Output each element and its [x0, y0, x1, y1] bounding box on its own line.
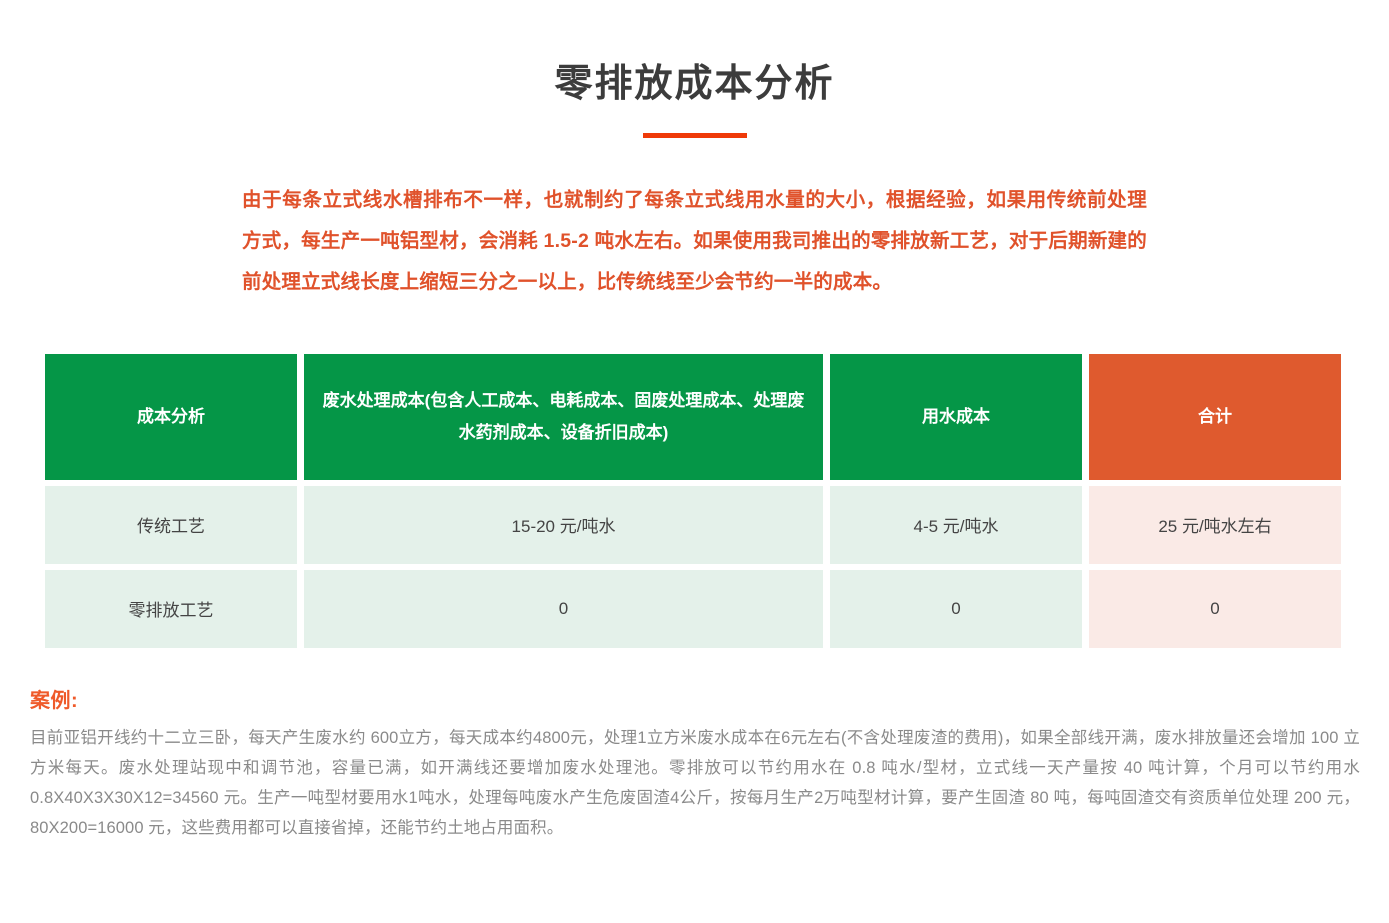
cell-wastewater-cost-traditional: 15-20 元/吨水: [304, 486, 823, 564]
table-body: 传统工艺 15-20 元/吨水 4-5 元/吨水 25 元/吨水左右 零排放工艺…: [45, 486, 1341, 648]
title-underline-rule: [643, 133, 747, 138]
cost-analysis-page: 零排放成本分析 由于每条立式线水槽排布不一样，也就制约了每条立式线用水量的大小，…: [0, 0, 1389, 923]
page-title: 零排放成本分析: [0, 62, 1389, 108]
cell-water-cost-zero-emission: 0: [830, 570, 1082, 648]
intro-paragraph: 由于每条立式线水槽排布不一样，也就制约了每条立式线用水量的大小，根据经验，如果用…: [242, 180, 1147, 303]
cell-wastewater-cost-zero-emission: 0: [304, 570, 823, 648]
cell-process-traditional: 传统工艺: [45, 486, 297, 564]
case-study-block: 案例: 目前亚铝开线约十二立三卧，每天产生废水约 600立方，每天成本约4800…: [30, 684, 1360, 843]
table-header: 成本分析 废水处理成本(包含人工成本、电耗成本、固废处理成本、处理废水药剂成本、…: [45, 354, 1341, 480]
column-header-wastewater-cost: 废水处理成本(包含人工成本、电耗成本、固废处理成本、处理废水药剂成本、设备折旧成…: [304, 354, 823, 480]
title-block: 零排放成本分析: [0, 0, 1389, 138]
cell-total-zero-emission: 0: [1089, 570, 1341, 648]
table-header-row: 成本分析 废水处理成本(包含人工成本、电耗成本、固废处理成本、处理废水药剂成本、…: [45, 354, 1341, 480]
case-study-body: 目前亚铝开线约十二立三卧，每天产生废水约 600立方，每天成本约4800元，处理…: [30, 723, 1360, 843]
column-header-cost-analysis: 成本分析: [45, 354, 297, 480]
column-header-total: 合计: [1089, 354, 1341, 480]
table-row: 零排放工艺 0 0 0: [45, 570, 1341, 648]
table-row: 传统工艺 15-20 元/吨水 4-5 元/吨水 25 元/吨水左右: [45, 486, 1341, 564]
cell-water-cost-traditional: 4-5 元/吨水: [830, 486, 1082, 564]
case-study-heading: 案例:: [30, 684, 1360, 713]
cell-total-traditional: 25 元/吨水左右: [1089, 486, 1341, 564]
cell-process-zero-emission: 零排放工艺: [45, 570, 297, 648]
cost-analysis-table: 成本分析 废水处理成本(包含人工成本、电耗成本、固废处理成本、处理废水药剂成本、…: [38, 348, 1348, 654]
column-header-water-cost: 用水成本: [830, 354, 1082, 480]
